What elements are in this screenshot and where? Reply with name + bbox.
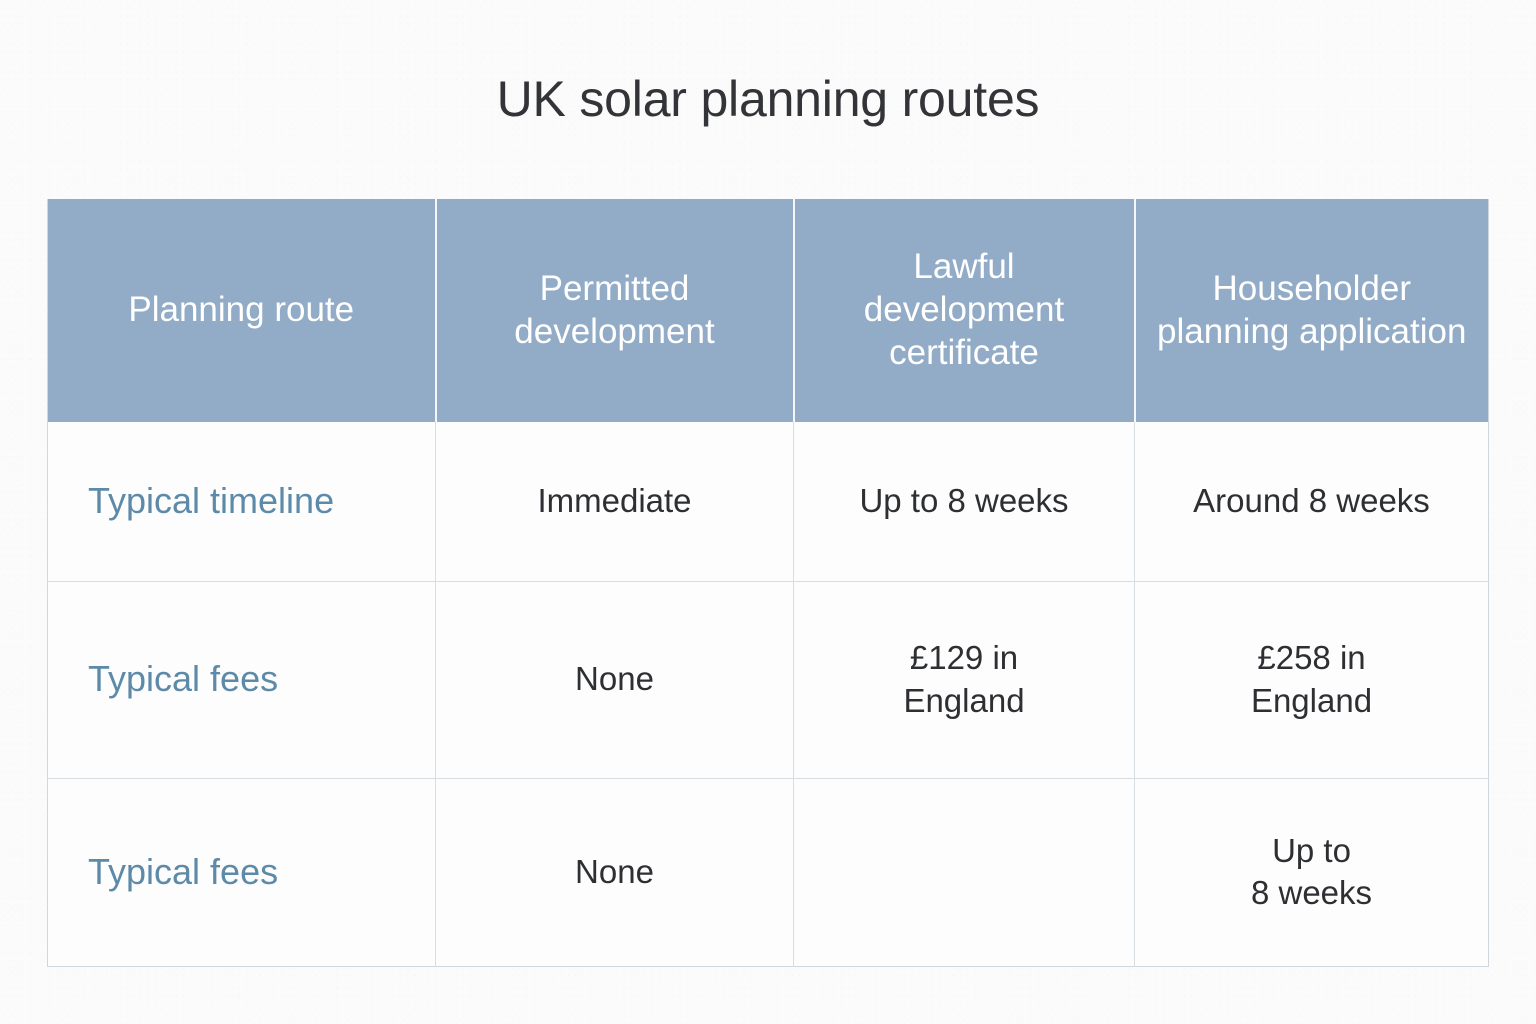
- cell-fees-householder-planning-application: £258 in England: [1135, 581, 1489, 778]
- cell-timeline-permitted-development: Immediate: [436, 422, 794, 581]
- cell-line-2: 8 weeks: [1149, 872, 1474, 914]
- page-title: UK solar planning routes: [0, 72, 1536, 127]
- cell-line-1: Around 8 weeks: [1149, 480, 1474, 522]
- table-header-row: Planning route Permitted development Law…: [48, 199, 1489, 422]
- planning-routes-table: Planning route Permitted development Law…: [47, 199, 1489, 967]
- column-header-permitted-development: Permitted development: [436, 199, 794, 422]
- table-header: Planning route Permitted development Law…: [48, 199, 1489, 422]
- cell-fees2-householder-planning-application: Up to 8 weeks: [1135, 778, 1489, 966]
- cell-fees-lawful-development-certificate: £129 in England: [794, 581, 1135, 778]
- column-header-planning-route: Planning route: [48, 199, 436, 422]
- cell-line-2: England: [1149, 680, 1474, 722]
- row-label-typical-fees-2: Typical fees: [48, 778, 436, 966]
- column-header-lawful-development-certificate: Lawful development certificate: [794, 199, 1135, 422]
- cell-timeline-householder-planning-application: Around 8 weeks: [1135, 422, 1489, 581]
- table-row: Typical fees None Up to 8 weeks: [48, 778, 1489, 966]
- cell-line-1: None: [450, 658, 779, 700]
- cell-fees-permitted-development: None: [436, 581, 794, 778]
- planning-routes-table-wrapper: Planning route Permitted development Law…: [47, 199, 1488, 966]
- cell-line-1: Up to: [1149, 830, 1474, 872]
- table-body: Typical timeline Immediate Up to 8 weeks…: [48, 422, 1489, 966]
- cell-fees2-lawful-development-certificate: [794, 778, 1135, 966]
- table-row: Typical timeline Immediate Up to 8 weeks…: [48, 422, 1489, 581]
- row-label-typical-timeline: Typical timeline: [48, 422, 436, 581]
- cell-line-1: None: [450, 851, 779, 893]
- table-row: Typical fees None £129 in England £258 i…: [48, 581, 1489, 778]
- cell-line-2: England: [808, 680, 1120, 722]
- cell-line-1: Immediate: [450, 480, 779, 522]
- cell-line-1: Up to 8 weeks: [808, 480, 1120, 522]
- cell-line-1: £258 in: [1149, 637, 1474, 679]
- cell-line-1: £129 in: [808, 637, 1120, 679]
- cell-fees2-permitted-development: None: [436, 778, 794, 966]
- cell-timeline-lawful-development-certificate: Up to 8 weeks: [794, 422, 1135, 581]
- column-header-householder-planning-application: Householder planning application: [1135, 199, 1489, 422]
- row-label-typical-fees: Typical fees: [48, 581, 436, 778]
